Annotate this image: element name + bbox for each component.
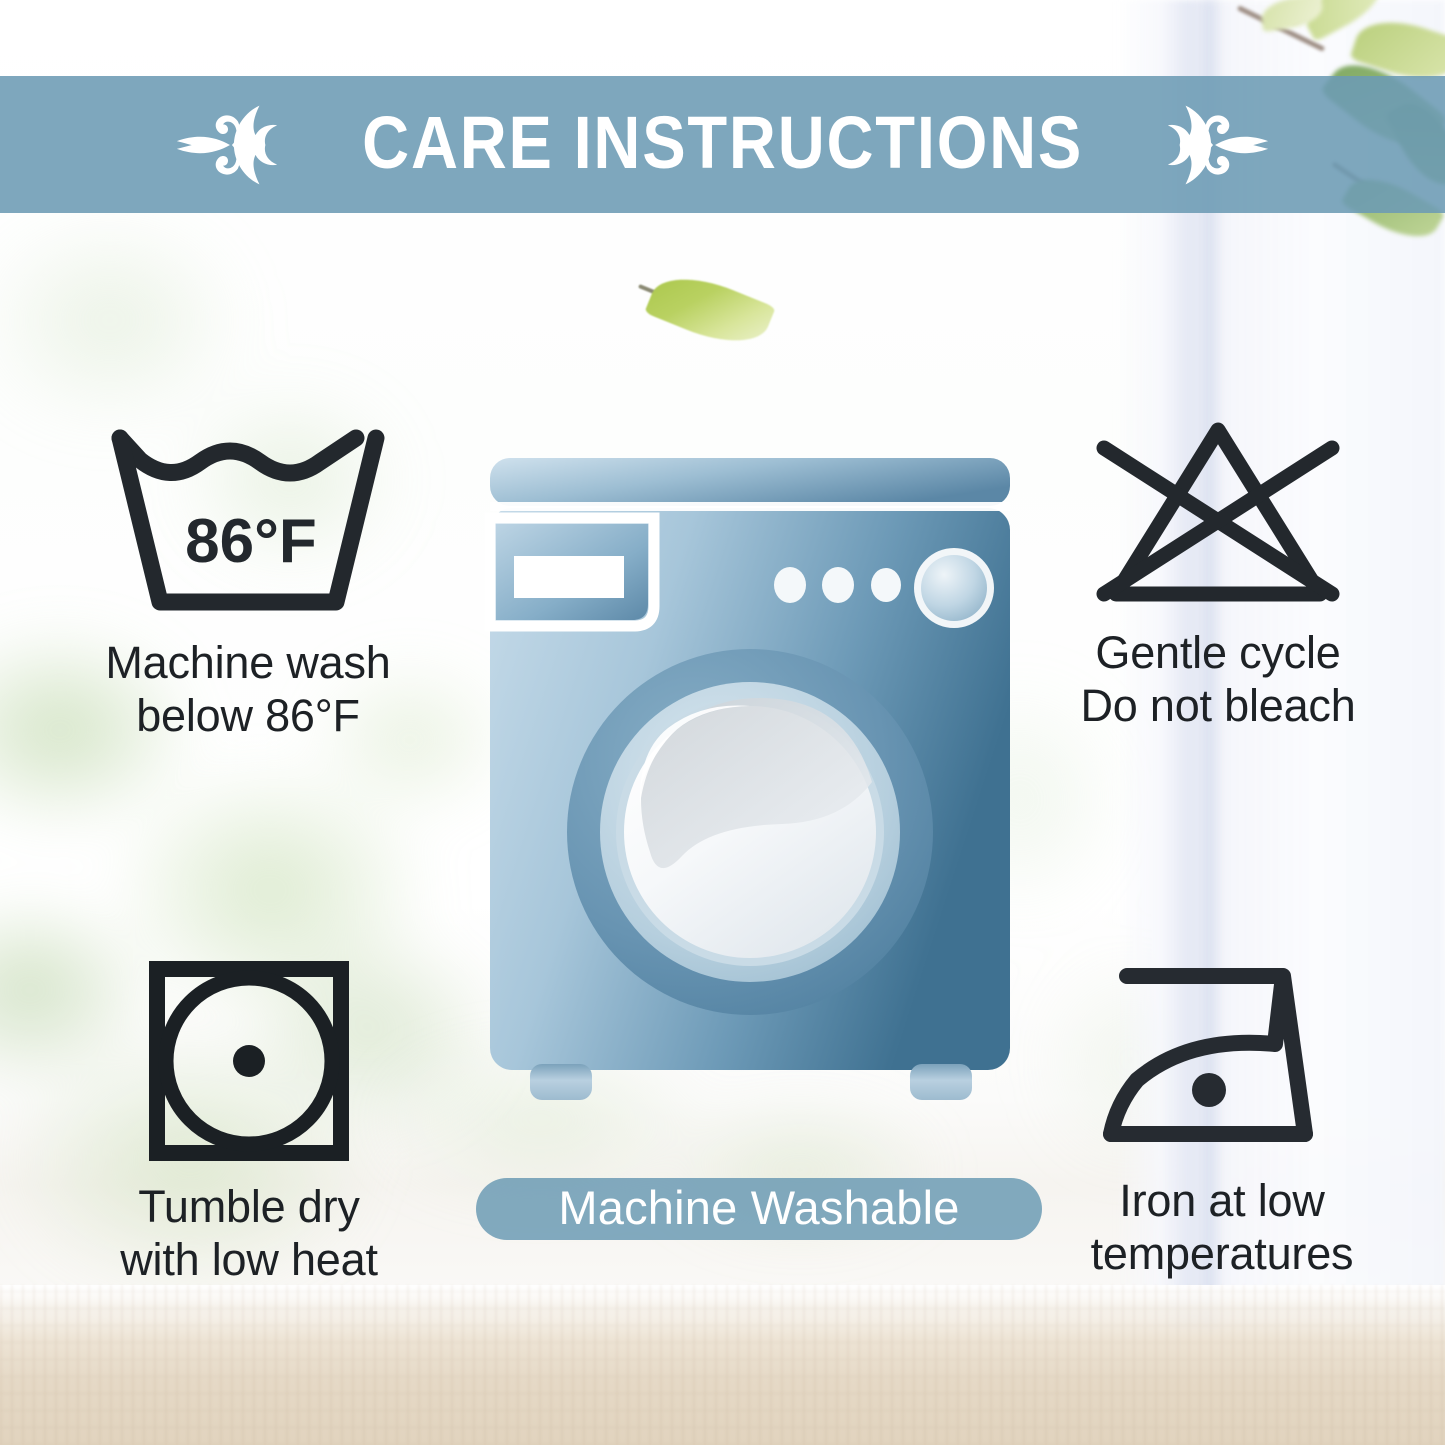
care-symbol-machine-wash: 86°F Machine wash below 86°F <box>48 424 448 742</box>
care-symbol-caption-tumble-dry: Tumble dry with low heat <box>120 1180 378 1286</box>
care-instructions-infographic: CARE INSTRUCTIONS <box>0 0 1445 1445</box>
triangle-crossed-icon <box>1084 414 1352 610</box>
wash-tub-icon: 86°F <box>104 424 392 620</box>
care-symbol-do-not-bleach: Gentle cycle Do not bleach <box>1012 414 1424 732</box>
iron-low-icon <box>1097 958 1347 1158</box>
fleur-de-lis-icon-left <box>169 97 287 193</box>
machine-washable-badge: Machine Washable <box>476 1178 1042 1240</box>
wooden-table-surface <box>0 1285 1445 1445</box>
tumble-dry-low-icon <box>146 958 352 1164</box>
care-symbol-tumble-dry: Tumble dry with low heat <box>60 958 438 1286</box>
care-symbol-iron-low: Iron at low temperatures <box>1022 958 1422 1280</box>
care-symbol-caption-machine-wash: Machine wash below 86°F <box>105 636 390 742</box>
washing-machine-illustration <box>482 452 1018 1124</box>
fleur-de-lis-icon-right <box>1158 97 1276 193</box>
care-symbol-caption-do-not-bleach: Gentle cycle Do not bleach <box>1080 626 1355 732</box>
header-banner: CARE INSTRUCTIONS <box>0 76 1445 213</box>
page-title: CARE INSTRUCTIONS <box>362 106 1083 184</box>
machine-washable-badge-label: Machine Washable <box>558 1184 959 1234</box>
care-symbol-caption-iron-low: Iron at low temperatures <box>1091 1174 1354 1280</box>
wash-temperature-value: 86°F <box>185 507 317 576</box>
